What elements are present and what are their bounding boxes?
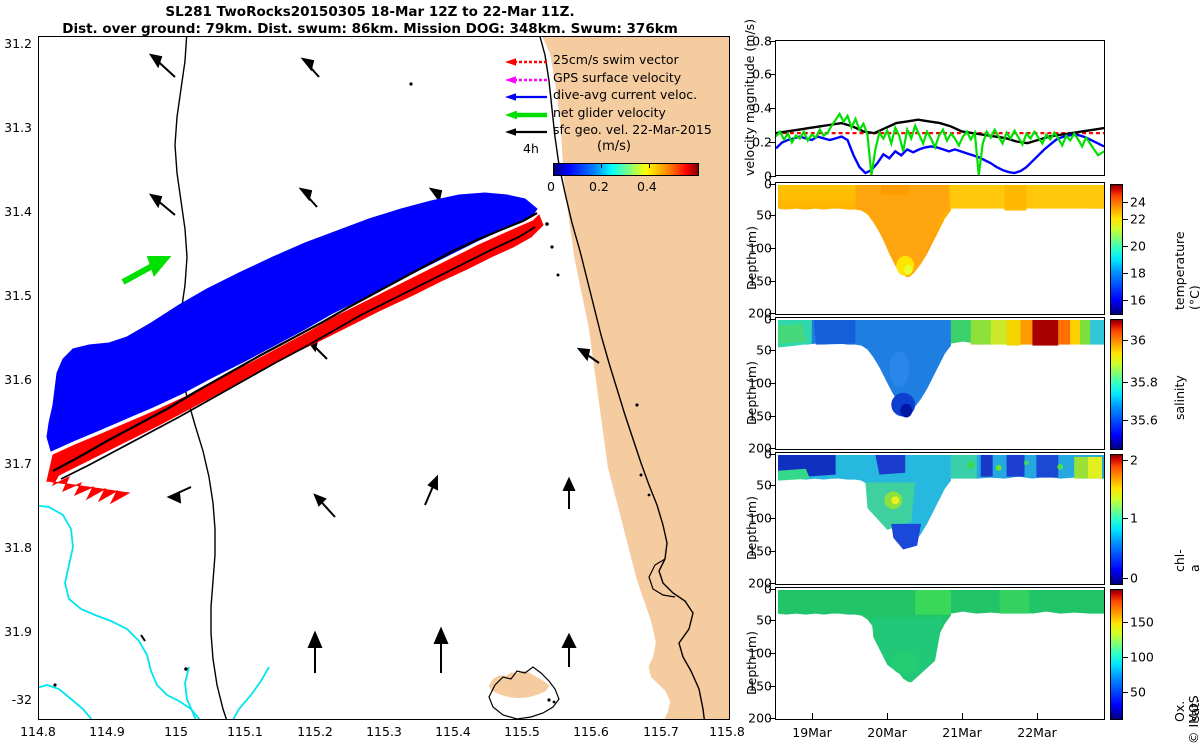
map-xtick: 114.9 — [89, 724, 125, 739]
chlorophyll-plot — [776, 453, 1104, 584]
map-xtick: 115.6 — [573, 724, 609, 739]
chlorophyll-colorbar-label: chl-a (mg m-3) — [1172, 544, 1200, 572]
temperature-colorbar-label: temperature (°C) — [1172, 231, 1200, 310]
oxygen-ytick: 200 — [735, 711, 772, 726]
temperature-ytick: 150 — [735, 274, 772, 289]
map-xtick: 115.7 — [643, 724, 679, 739]
legend-item-net-glider-velocity: net glider velocity — [501, 106, 721, 124]
time-axis-tick: 21Mar — [942, 725, 982, 740]
legend-item-sfc-geo-velocity: sfc geo. vel. 22-Mar-2015 — [501, 123, 721, 141]
map-colorbar — [553, 163, 699, 176]
legend-label: sfc geo. vel. 22-Mar-2015 — [553, 122, 712, 137]
legend-item-gps-surface-velocity: GPS surface velocity — [501, 71, 721, 89]
oxygen-cbar-tick: 150 — [1130, 615, 1154, 630]
chlorophyll-ytick: 100 — [735, 511, 772, 526]
oxygen-cbar-tick: 100 — [1130, 650, 1154, 665]
legend-item-swim-vector: 25cm/s swim vector — [501, 53, 721, 71]
map-legend: 25cm/s swim vector GPS surface velocity … — [501, 53, 721, 203]
salinity-section-panel[interactable] — [775, 317, 1105, 450]
temperature-cbar-tick: 24 — [1130, 195, 1146, 210]
velocity-ytick: 0.8 — [743, 34, 772, 49]
imos-credit: © IMOS 15-Apr-2024 10:12:47 Hobart time.… — [1186, 688, 1200, 744]
temperature-section-panel[interactable] — [775, 182, 1105, 315]
chlorophyll-cbar-tick: 0 — [1130, 571, 1138, 586]
oxygen-cbar-tick: 50 — [1130, 685, 1146, 700]
salinity-plot — [776, 318, 1104, 449]
salinity-colorbar — [1110, 319, 1123, 450]
page-title: SL281 TwoRocks20150305 18-Mar 12Z to 22-… — [0, 4, 740, 38]
temperature-plot — [776, 183, 1104, 314]
map-xtick: 115.3 — [366, 724, 402, 739]
velocity-timeseries-panel[interactable] — [775, 40, 1105, 176]
temperature-ytick: 100 — [735, 241, 772, 256]
velocity-ytick: 0.4 — [743, 101, 772, 116]
salinity-cbar-tick: 35.6 — [1130, 413, 1158, 428]
chlorophyll-cbar-tick: 2 — [1130, 453, 1138, 468]
temperature-cbar-tick: 16 — [1130, 293, 1146, 308]
chlorophyll-cbar-tick: 1 — [1130, 511, 1138, 526]
dive-avg-current-arrow-icon — [503, 93, 549, 101]
title-line-1: SL281 TwoRocks20150305 18-Mar 12Z to 22-… — [0, 4, 740, 21]
legend-label: dive-avg current veloc. — [553, 87, 697, 102]
legend-label: net glider velocity — [553, 105, 666, 120]
temperature-cbar-tick: 20 — [1130, 239, 1146, 254]
legend-item-dive-avg-current: dive-avg current veloc. — [501, 88, 721, 106]
oxygen-colorbar — [1110, 589, 1123, 720]
time-axis-tick: 19Mar — [792, 725, 832, 740]
chlorophyll-section-panel[interactable] — [775, 452, 1105, 585]
salinity-cbar-tick: 35.8 — [1130, 375, 1158, 390]
oxygen-section-panel[interactable] — [775, 587, 1105, 720]
salinity-ytick: 150 — [735, 409, 772, 424]
velocity-ytick: 0.6 — [743, 67, 772, 82]
legend-label: 25cm/s swim vector — [553, 52, 679, 67]
net-glider-velocity-arrow-icon — [503, 111, 549, 119]
oxygen-ytick: 50 — [742, 613, 772, 628]
temperature-colorbar — [1110, 184, 1123, 315]
swim-vector-arrow-icon — [503, 58, 549, 66]
temperature-cbar-tick: 18 — [1130, 266, 1146, 281]
velocity-plot — [776, 41, 1104, 175]
map-cbar-tick: 0.2 — [589, 179, 609, 194]
map-colorbar-units: (m/s) — [597, 139, 631, 154]
salinity-ytick: 50 — [742, 343, 772, 358]
map-xtick: 115.1 — [227, 724, 263, 739]
salinity-cbar-tick: 36 — [1130, 333, 1146, 348]
time-axis-tick: 20Mar — [867, 725, 907, 740]
chlorophyll-ytick: 50 — [742, 478, 772, 493]
salinity-ytick: 100 — [735, 376, 772, 391]
map-cbar-tick: 0.4 — [637, 179, 657, 194]
map-xtick: 115.5 — [504, 724, 540, 739]
oxygen-plot — [776, 588, 1104, 719]
time-axis-tick: 22Mar — [1017, 725, 1057, 740]
legend-label: GPS surface velocity — [553, 70, 681, 85]
salinity-colorbar-label: salinity — [1172, 375, 1187, 420]
map-xtick: 115.4 — [435, 724, 471, 739]
map-cbar-tick: 0 — [547, 179, 555, 194]
oxygen-ytick: 100 — [735, 646, 772, 661]
gps-velocity-arrow-icon — [503, 76, 549, 84]
map-xtick: 115.8 — [709, 724, 745, 739]
temperature-ytick: 50 — [742, 208, 772, 223]
chlorophyll-colorbar — [1110, 454, 1123, 585]
chlorophyll-ytick: 150 — [735, 544, 772, 559]
map-xtick: 115 — [164, 724, 188, 739]
temperature-cbar-tick: 22 — [1130, 212, 1146, 227]
map-panel[interactable]: 25cm/s swim vector GPS surface velocity … — [38, 36, 730, 720]
sfc-geo-velocity-arrow-icon — [503, 128, 549, 136]
velocity-ytick: 0.2 — [743, 135, 772, 150]
oxygen-ytick: 150 — [735, 679, 772, 694]
time-scale-label: 4h — [523, 141, 539, 156]
map-colorbar-ticks: 0 0.2 0.4 — [541, 179, 721, 195]
map-xtick: 115.2 — [297, 724, 333, 739]
map-xtick: 114.8 — [20, 724, 56, 739]
